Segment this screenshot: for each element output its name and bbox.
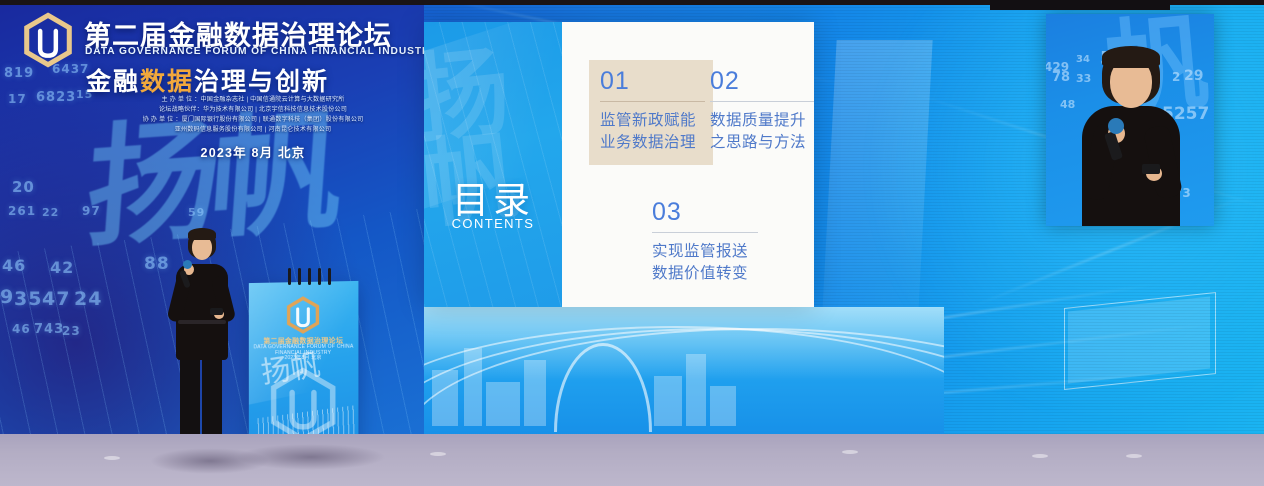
toc-entry-01: 01 监管新政赋能 业务数据治理 xyxy=(589,60,713,165)
backdrop-subtitle: 金融数据治理与创新 xyxy=(86,62,329,98)
toc-text-line1: 数据质量提升 xyxy=(710,110,814,132)
float-number: 46 xyxy=(12,322,31,336)
toc-divider xyxy=(600,101,705,102)
microphone-head-icon xyxy=(183,260,192,269)
float-number: 24 xyxy=(74,288,102,310)
float-number: 9 xyxy=(0,286,14,308)
subtitle-part-a: 金融 xyxy=(86,68,140,96)
presentation-clicker-icon xyxy=(210,308,223,315)
toc-text-line1: 实现监管报送 xyxy=(652,241,758,263)
slide-contents-title-en: CONTENTS xyxy=(424,216,562,231)
backdrop-title-en: DATA GOVERNANCE FORUM OF CHINA FINANCIAL… xyxy=(85,46,424,57)
float-number: 20 xyxy=(12,178,35,196)
organizer-line: 主 办 单 位 ：中国金融杂志社 | 中国信通院云计算与大数据研究所 xyxy=(100,95,406,105)
float-number: 46 xyxy=(2,256,26,275)
presentation-slide: 扬帆 目录 CONTENTS 01 监管新政赋能 业务数据治理 02 数据质量提… xyxy=(424,22,814,307)
float-number: 42 xyxy=(50,258,74,277)
toc-text-line2: 业务数据治理 xyxy=(600,132,705,154)
podium-forum-logo-icon xyxy=(284,296,322,334)
float-number: 6823 xyxy=(36,90,76,105)
organizer-line: 论坛战略伙伴：华为技术有限公司 | 北京宇信科技信息技术股份公司 xyxy=(100,105,406,115)
stage-floor xyxy=(0,434,1264,486)
organizer-line: 协 办 单 位 ：厦门国际银行股份有限公司 | 联通数字科技（集团）股份有限公司 xyxy=(100,115,406,125)
toc-divider xyxy=(652,232,758,233)
float-number: 23 xyxy=(62,324,81,338)
toc-divider xyxy=(710,101,814,102)
float-number: 35 xyxy=(14,288,42,310)
toc-text-line2: 之思路与方法 xyxy=(710,132,814,154)
float-number: 47 xyxy=(42,288,70,310)
belt xyxy=(178,320,226,324)
wall-panel-fill xyxy=(1068,297,1210,384)
microphone-head-icon xyxy=(1108,118,1124,134)
forum-logo-icon xyxy=(20,12,76,68)
live-camera-feed: 帆 429 34 55 78 33 2 29 48 5257 73 xyxy=(1046,14,1214,226)
speaker-closeup xyxy=(1046,14,1214,226)
toc-text-line2: 数据价值转变 xyxy=(652,263,758,285)
toc-entry-02: 02 数据质量提升 之思路与方法 xyxy=(710,69,814,154)
subtitle-part-c: 治理与创新 xyxy=(194,68,329,96)
toc-text-line1: 监管新政赋能 xyxy=(600,110,705,132)
presentation-clicker-icon xyxy=(1142,164,1160,174)
float-number: 261 xyxy=(8,204,36,218)
toc-number: 01 xyxy=(600,69,705,94)
float-number: 743 xyxy=(34,322,64,337)
float-number: 97 xyxy=(82,204,101,218)
top-letterbox-bar xyxy=(990,0,1170,10)
speaker-on-stage xyxy=(158,226,254,458)
organizer-line: 亚州数码信息服务股份有限公司 | 河南昆仑技术有限公司 xyxy=(100,125,406,135)
float-number: 17 xyxy=(8,92,27,106)
slide-toc-area: 01 监管新政赋能 业务数据治理 02 数据质量提升 之思路与方法 03 实现监… xyxy=(562,22,814,307)
float-number: 819 xyxy=(4,66,34,81)
toc-number: 02 xyxy=(710,69,814,94)
organizer-list: 主 办 单 位 ：中国金融杂志社 | 中国信通院云计算与大数据研究所 论坛战略伙… xyxy=(100,95,406,134)
toc-entry-03: 03 实现监管报送 数据价值转变 xyxy=(652,200,758,285)
podium-microphone-array xyxy=(288,268,334,286)
float-number: 59 xyxy=(188,206,205,219)
float-number: 22 xyxy=(42,206,59,219)
slide-contents-panel: 扬帆 目录 CONTENTS xyxy=(424,22,562,307)
backdrop-date-line: 2023年 8月 北京 xyxy=(100,142,406,161)
subtitle-part-b: 数据 xyxy=(140,68,194,96)
conference-stage-photo: 扬帆 819 6437 17 6823 15 20 261 22 97 59 4… xyxy=(0,0,1264,486)
city-skyline-graphic xyxy=(424,307,944,440)
toc-number: 03 xyxy=(652,200,758,225)
